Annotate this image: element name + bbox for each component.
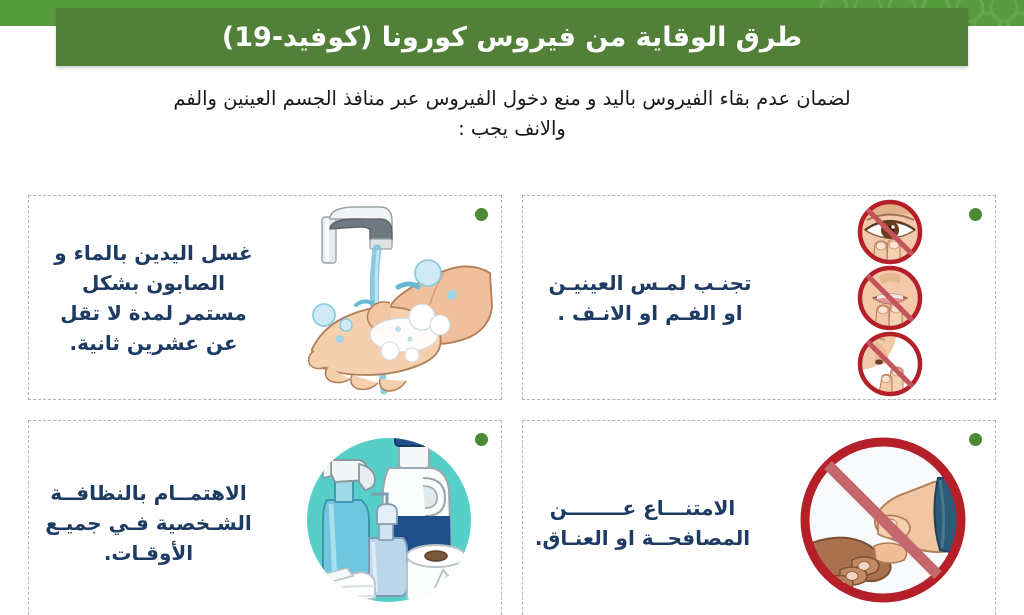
title-banner: طرق الوقاية من فيروس كورونا (كوفيد-19) bbox=[56, 8, 968, 66]
card-line: الصابون بشكل bbox=[35, 268, 272, 298]
card-line: مستمر لمدة لا تقل bbox=[35, 298, 272, 328]
card-line: الأوقـات. bbox=[35, 538, 262, 568]
card-text-avoid-touching-face: تجنـب لمـس العينيـن او الفـم او الانـف . bbox=[523, 268, 785, 328]
card-line: الشـخصية فـي جميـع bbox=[35, 508, 262, 538]
card-text-no-handshake: الامتنـــاع عــــــــن المصافحــة او الع… bbox=[523, 493, 770, 553]
infographic-page: طرق الوقاية من فيروس كورونا (كوفيد-19) ل… bbox=[0, 0, 1024, 615]
no-touch-face-icon bbox=[785, 198, 995, 398]
subtitle-line-2: والانف يجب : bbox=[458, 117, 566, 140]
card-dot-marker bbox=[475, 433, 488, 446]
header: طرق الوقاية من فيروس كورونا (كوفيد-19) bbox=[0, 0, 1024, 72]
handwashing-icon bbox=[286, 198, 501, 398]
card-line: الاهتمــام بالنظافــة bbox=[35, 478, 262, 508]
no-handshake-icon bbox=[770, 420, 995, 615]
card-line: عن عشرين ثانية. bbox=[35, 328, 272, 358]
cleaning-supplies-icon bbox=[276, 420, 501, 615]
card-line: غسل اليدين بالماء و bbox=[35, 238, 272, 268]
page-title: طرق الوقاية من فيروس كورونا (كوفيد-19) bbox=[222, 22, 802, 53]
card-line: تجنـب لمـس العينيـن bbox=[529, 268, 771, 298]
card-avoid-touching-face: تجنـب لمـس العينيـن او الفـم او الانـف . bbox=[522, 195, 996, 400]
card-text-personal-hygiene: الاهتمــام بالنظافــة الشـخصية فـي جميـع… bbox=[29, 478, 276, 568]
wipes-shape bbox=[305, 568, 375, 610]
card-line: او الفـم او الانـف . bbox=[529, 298, 771, 328]
card-no-handshake: الامتنـــاع عــــــــن المصافحــة او الع… bbox=[522, 420, 996, 615]
subtitle: لضمان عدم بقاء الفيروس باليد و منع دخول … bbox=[36, 84, 988, 144]
card-line: الامتنـــاع عــــــــن bbox=[529, 493, 756, 523]
card-personal-hygiene: الاهتمــام بالنظافــة الشـخصية فـي جميـع… bbox=[28, 420, 502, 615]
card-line: المصافحــة او العنـاق. bbox=[529, 523, 756, 553]
subtitle-line-1: لضمان عدم بقاء الفيروس باليد و منع دخول … bbox=[173, 87, 850, 110]
faucet-shape bbox=[322, 207, 392, 263]
prevention-cards-grid: تجنـب لمـس العينيـن او الفـم او الانـف . bbox=[28, 195, 996, 615]
card-dot-marker bbox=[969, 433, 982, 446]
toilet-paper-shape bbox=[407, 545, 465, 615]
card-wash-hands: غسل اليدين بالماء و الصابون بشكل مستمر ل… bbox=[28, 195, 502, 400]
card-dot-marker bbox=[475, 208, 488, 221]
card-text-wash-hands: غسل اليدين بالماء و الصابون بشكل مستمر ل… bbox=[29, 238, 286, 358]
card-dot-marker bbox=[969, 208, 982, 221]
